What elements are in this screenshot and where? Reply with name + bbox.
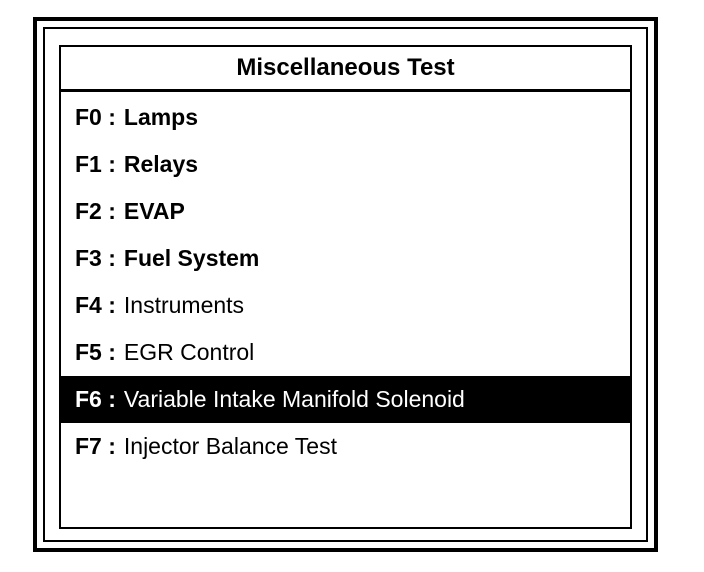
menu-title-bar: Miscellaneous Test: [61, 47, 630, 92]
menu-item-key: F1 :: [75, 151, 116, 178]
menu-panel: Miscellaneous Test F0 :LampsF1 :RelaysF2…: [59, 45, 632, 529]
menu-item-key: F2 :: [75, 198, 116, 225]
menu-item-f7[interactable]: F7 :Injector Balance Test: [61, 423, 630, 470]
menu-item-label: Variable Intake Manifold Solenoid: [124, 386, 465, 413]
device-screen-inner-frame: Miscellaneous Test F0 :LampsF1 :RelaysF2…: [43, 27, 648, 542]
menu-item-key: F6 :: [75, 386, 116, 413]
menu-item-f4[interactable]: F4 :Instruments: [61, 282, 630, 329]
menu-item-key: F4 :: [75, 292, 116, 319]
menu-item-f3[interactable]: F3 :Fuel System: [61, 235, 630, 282]
menu-item-key: F5 :: [75, 339, 116, 366]
menu-item-f0[interactable]: F0 :Lamps: [61, 94, 630, 141]
menu-item-label: Relays: [124, 151, 198, 178]
menu-item-key: F3 :: [75, 245, 116, 272]
menu-item-label: EVAP: [124, 198, 185, 225]
menu-item-key: F0 :: [75, 104, 116, 131]
device-screen-outer-frame: Miscellaneous Test F0 :LampsF1 :RelaysF2…: [33, 17, 658, 552]
menu-item-f2[interactable]: F2 :EVAP: [61, 188, 630, 235]
menu-item-label: Injector Balance Test: [124, 433, 337, 460]
menu-item-f6[interactable]: F6 :Variable Intake Manifold Solenoid: [61, 376, 630, 423]
menu-item-key: F7 :: [75, 433, 116, 460]
menu-item-label: Lamps: [124, 104, 198, 131]
menu-item-f1[interactable]: F1 :Relays: [61, 141, 630, 188]
menu-item-label: Fuel System: [124, 245, 260, 272]
menu-item-list: F0 :LampsF1 :RelaysF2 :EVAPF3 :Fuel Syst…: [61, 92, 630, 527]
menu-item-label: EGR Control: [124, 339, 254, 366]
page-title: Miscellaneous Test: [236, 54, 454, 82]
menu-item-f5[interactable]: F5 :EGR Control: [61, 329, 630, 376]
menu-item-label: Instruments: [124, 292, 244, 319]
